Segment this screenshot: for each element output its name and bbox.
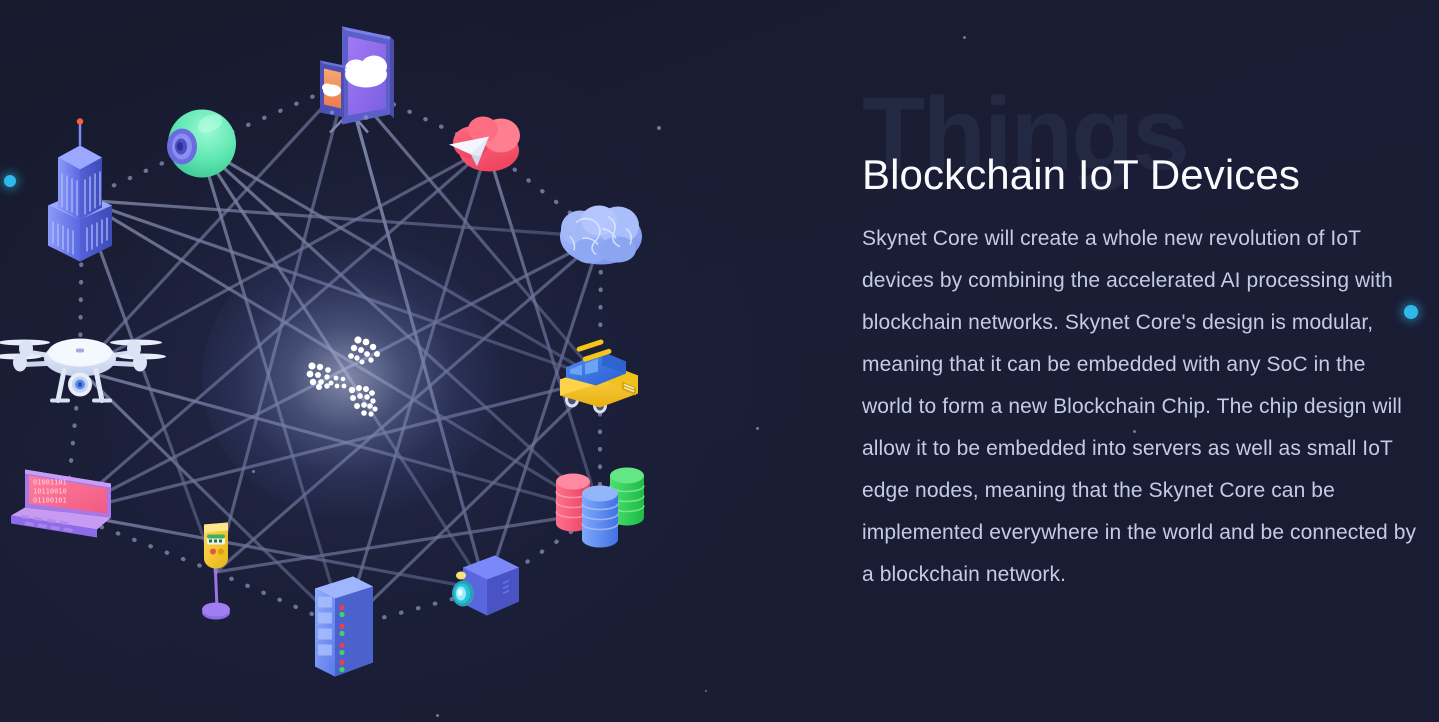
vehicle-icon[interactable]	[552, 338, 648, 421]
database-icon[interactable]	[548, 462, 652, 563]
camera-box-icon[interactable]	[443, 546, 529, 635]
drone-icon[interactable]	[0, 313, 170, 428]
page-title: Blockchain IoT Devices	[862, 151, 1300, 199]
brain-icon[interactable]	[546, 193, 656, 282]
background-star	[963, 36, 966, 39]
background-star	[705, 690, 707, 692]
background-star	[252, 470, 255, 473]
background-star	[1133, 430, 1136, 433]
traffic-light-icon[interactable]	[186, 511, 246, 634]
eye-sensor-icon[interactable]	[158, 102, 242, 191]
svg-text:01100101: 01100101	[33, 497, 67, 505]
iot-network-illustration: 01001101 10110010 01100101	[0, 0, 740, 722]
background-star	[657, 126, 661, 130]
background-star	[436, 714, 439, 717]
text-content-panel: Things Blockchain IoT Devices Skynet Cor…	[862, 0, 1422, 722]
laptop-icon[interactable]: 01001101 10110010 01100101	[1, 458, 131, 569]
svg-text:01001101: 01001101	[33, 479, 67, 487]
skyscraper-icon[interactable]	[34, 114, 130, 287]
background-star	[756, 427, 759, 430]
page-root: 01001101 10110010 01100101	[0, 0, 1439, 722]
cloud-plane-icon[interactable]	[433, 103, 541, 194]
body-paragraph: Skynet Core will create a whole new revo…	[862, 218, 1420, 596]
accent-dot-right	[1404, 305, 1418, 319]
background-star	[1281, 236, 1284, 239]
skynet-logo	[292, 318, 412, 438]
svg-text:10110010: 10110010	[33, 488, 67, 496]
tablet-phone-cloud-icon[interactable]	[286, 15, 406, 150]
accent-dot-left	[4, 175, 16, 187]
server-rack-icon[interactable]	[299, 563, 389, 694]
